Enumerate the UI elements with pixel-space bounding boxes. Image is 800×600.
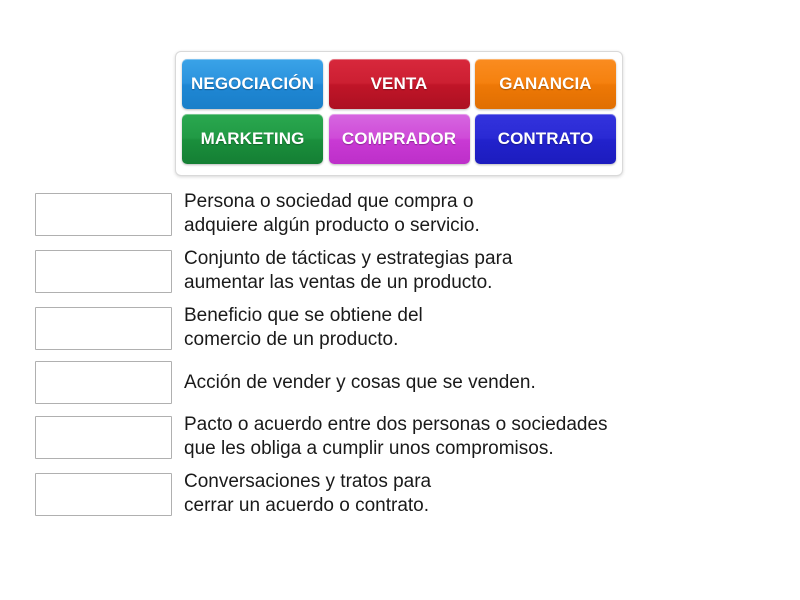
draggable-tile-comprador[interactable]: COMPRADOR xyxy=(329,114,470,164)
tile-label: NEGOCIACIÓN xyxy=(191,74,314,94)
definition-text: Conversaciones y tratos para cerrar un a… xyxy=(184,470,800,518)
answer-drop-box[interactable] xyxy=(35,473,172,516)
draggable-tile-ganancia[interactable]: GANANCIA xyxy=(475,59,616,109)
definition-text: Pacto o acuerdo entre dos personas o soc… xyxy=(184,413,800,461)
answer-drop-box[interactable] xyxy=(35,193,172,236)
draggable-tile-marketing[interactable]: MARKETING xyxy=(182,114,323,164)
tile-label: CONTRATO xyxy=(498,129,594,149)
answer-drop-box[interactable] xyxy=(35,307,172,350)
word-bank-row-1: NEGOCIACIÓN VENTA GANANCIA xyxy=(182,59,616,109)
draggable-tile-venta[interactable]: VENTA xyxy=(329,59,470,109)
answer-drop-box[interactable] xyxy=(35,361,172,404)
definition-text: Persona o sociedad que compra o adquiere… xyxy=(184,190,800,238)
word-bank-panel: NEGOCIACIÓN VENTA GANANCIA MARKETING COM… xyxy=(175,51,623,176)
definition-row: Pacto o acuerdo entre dos personas o soc… xyxy=(0,413,800,461)
definition-list: Persona o sociedad que compra o adquiere… xyxy=(0,190,800,527)
definition-text: Beneficio que se obtiene del comercio de… xyxy=(184,304,800,352)
definition-row: Conjunto de tácticas y estrategias para … xyxy=(0,247,800,295)
tile-label: MARKETING xyxy=(201,129,305,149)
draggable-tile-negociacion[interactable]: NEGOCIACIÓN xyxy=(182,59,323,109)
tile-label: VENTA xyxy=(371,74,428,94)
definition-text: Conjunto de tácticas y estrategias para … xyxy=(184,247,800,295)
definition-row: Conversaciones y tratos para cerrar un a… xyxy=(0,470,800,518)
definition-row: Persona o sociedad que compra o adquiere… xyxy=(0,190,800,238)
answer-drop-box[interactable] xyxy=(35,250,172,293)
tile-label: COMPRADOR xyxy=(342,129,456,149)
word-bank-row-2: MARKETING COMPRADOR CONTRATO xyxy=(182,114,616,164)
definition-text: Acción de vender y cosas que se venden. xyxy=(184,371,800,395)
answer-drop-box[interactable] xyxy=(35,416,172,459)
tile-label: GANANCIA xyxy=(499,74,591,94)
definition-row: Acción de vender y cosas que se venden. xyxy=(0,361,800,404)
definition-row: Beneficio que se obtiene del comercio de… xyxy=(0,304,800,352)
draggable-tile-contrato[interactable]: CONTRATO xyxy=(475,114,616,164)
